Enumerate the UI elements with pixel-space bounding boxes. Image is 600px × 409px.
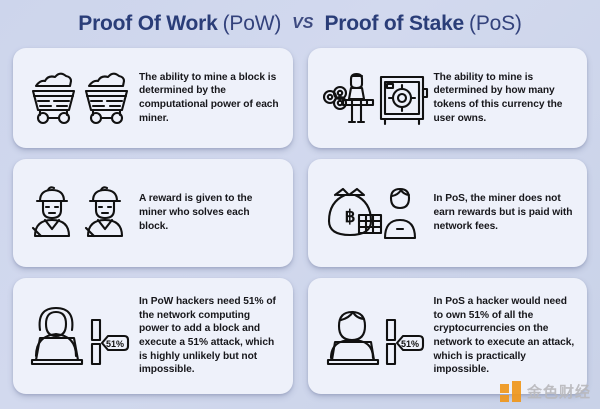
card-text: In PoW hackers need 51% of the network c…: [139, 295, 281, 377]
card-pow-mining-power: The ability to mine a block is determine…: [13, 48, 293, 148]
card-pow-block-reward: A reward is given to the miner who solve…: [13, 159, 293, 267]
vs-separator: VS: [292, 15, 313, 33]
card-text: The ability to mine a block is determine…: [139, 71, 281, 126]
badge-label-pos: 51%: [400, 339, 418, 349]
mine-carts-icon: [21, 54, 139, 142]
two-miners-icon: [21, 165, 139, 261]
pow-title-abbrev: (PoW): [223, 12, 282, 36]
person-laptop-icon: 51%: [316, 284, 434, 388]
page-title: Proof Of Work (PoW) VS Proof of Stake (P…: [0, 0, 600, 48]
money-bag-bitcoin-person-icon: ฿: [316, 165, 434, 261]
card-pos-51-attack: 51% In PoS a hacker would need to own 51…: [308, 278, 588, 394]
comparison-grid: The ability to mine a block is determine…: [0, 48, 600, 409]
hacker-laptop-icon: 51%: [21, 284, 139, 388]
card-pos-token-ownership: The ability to mine is determined by how…: [308, 48, 588, 148]
infographic-page: Proof Of Work (PoW) VS Proof of Stake (P…: [0, 0, 600, 409]
pos-title-abbrev: (PoS): [469, 12, 522, 36]
pos-title-main: Proof of Stake: [324, 12, 464, 36]
pow-title-main: Proof Of Work: [78, 12, 217, 36]
person-coins-safe-icon: [316, 54, 434, 142]
card-text: The ability to mine is determined by how…: [434, 71, 576, 126]
svg-text:฿: ฿: [344, 207, 355, 226]
badge-label-pow: 51%: [106, 339, 124, 349]
card-pow-51-attack: 51% In PoW hackers need 51% of the netwo…: [13, 278, 293, 394]
card-pos-network-fees: ฿ In PoS, the miner does not earn reward…: [308, 159, 588, 267]
card-text: In PoS a hacker would need to own 51% of…: [434, 295, 576, 377]
card-text: A reward is given to the miner who solve…: [139, 192, 281, 233]
pos-title: Proof of Stake (PoS): [324, 12, 521, 36]
pow-title: Proof Of Work (PoW): [78, 12, 281, 36]
card-text: In PoS, the miner does not earn rewards …: [434, 192, 576, 233]
